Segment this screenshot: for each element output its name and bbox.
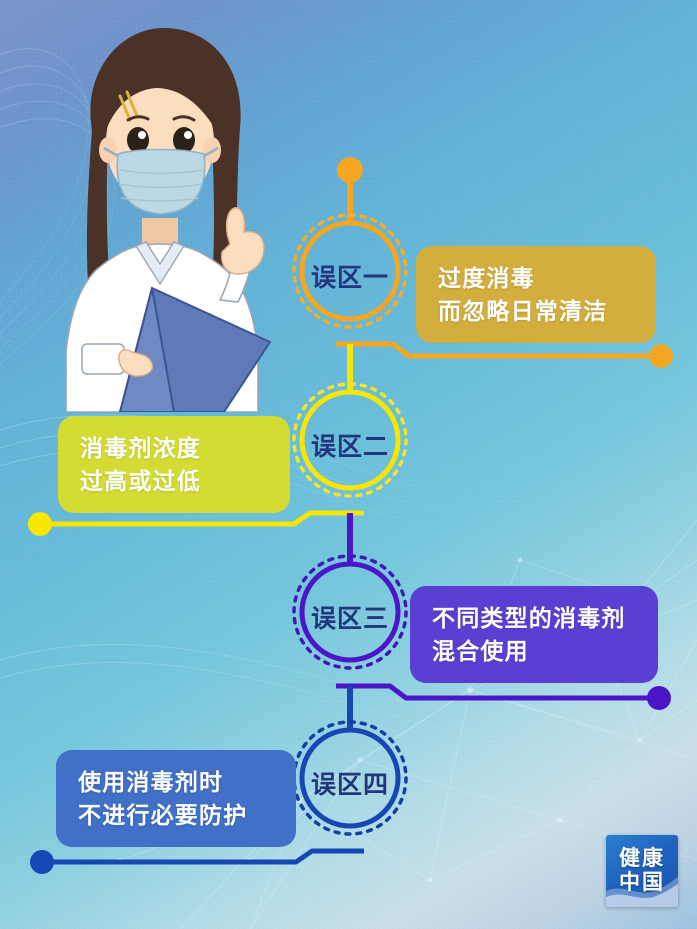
step-2-message-box: 消毒剂浓度 过高或过低 <box>58 416 290 513</box>
step-4-message-line-2: 不进行必要防护 <box>78 799 274 832</box>
step-1-message-line-1: 过度消毒 <box>438 262 634 295</box>
step-4-message-box: 使用消毒剂时 不进行必要防护 <box>56 750 296 847</box>
logo-line-2: 中国 <box>619 872 665 894</box>
step-2-message-line-2: 过高或过低 <box>80 465 268 498</box>
step-3-message-line-1: 不同类型的消毒剂 <box>432 602 636 635</box>
step-4-message-line-1: 使用消毒剂时 <box>78 766 274 799</box>
step-1-circle-label: 误区一 <box>295 258 405 294</box>
step-1-message-box: 过度消毒 而忽略日常清洁 <box>416 246 656 343</box>
step-3-message-box: 不同类型的消毒剂 混合使用 <box>410 586 658 683</box>
step-3-message-line-2: 混合使用 <box>432 635 636 668</box>
step-2-circle-label: 误区二 <box>295 427 405 463</box>
step-3-circle-label: 误区三 <box>295 599 405 635</box>
infographic-poster: 误区一 误区二 误区三 误区四 过度消毒 而忽略日常清洁 消毒剂浓度 过高或过低… <box>0 0 697 929</box>
step-4-circle-label: 误区四 <box>295 765 405 801</box>
healthy-china-logo: 健康 中国 <box>606 835 678 907</box>
step-1-message-line-2: 而忽略日常清洁 <box>438 295 634 328</box>
step-2-message-line-1: 消毒剂浓度 <box>80 432 268 465</box>
logo-line-1: 健康 <box>619 848 665 870</box>
